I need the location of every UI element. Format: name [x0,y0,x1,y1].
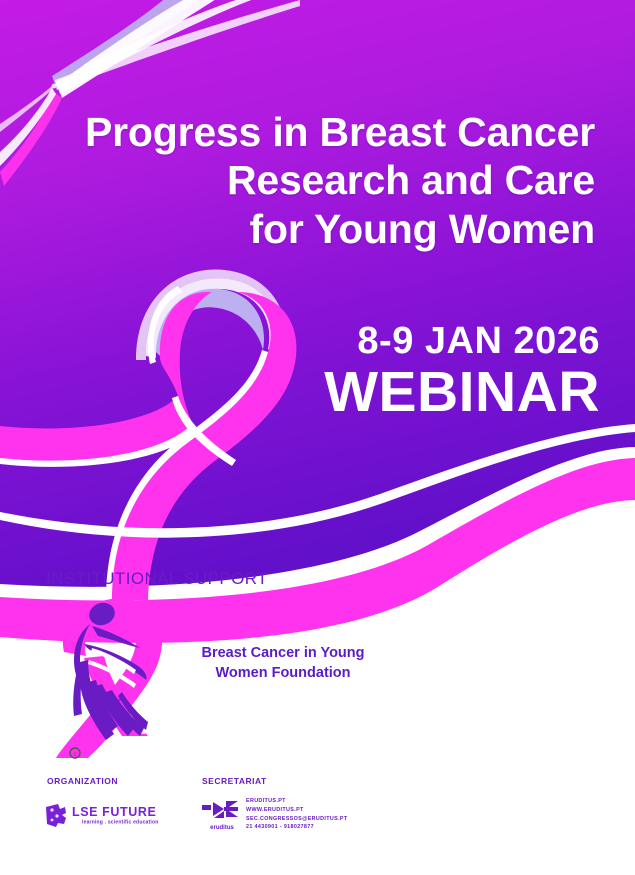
lse-future-logo: LSE FUTURE learning . scientific educati… [44,801,164,829]
event-date-format: 8-9 JAN 2026 WEBINAR [0,322,600,422]
header-purple-panel [0,0,635,594]
institutional-support-label: INSTITUTIONAL SUPPORT [46,569,268,589]
eruditus-wordmark: eruditus [210,825,234,831]
secretariat-label: SECRETARIAT [202,776,267,786]
title-line-3: for Young Women [0,205,595,253]
contact-line-1: ERUDITUS.PT [246,797,348,806]
event-format: WEBINAR [0,362,600,422]
svg-text:c: c [74,752,77,758]
event-date: 8-9 JAN 2026 [0,322,600,360]
page-title: Progress in Breast Cancer Research and C… [0,108,595,253]
title-line-1: Progress in Breast Cancer [0,108,595,156]
lse-future-tagline: learning . scientific education [82,820,159,826]
contact-line-2: WWW.ERUDITUS.PT [246,806,348,815]
contact-line-4: 21 4430901 - 918027877 [246,823,348,832]
organization-label: ORGANIZATION [47,776,118,786]
conference-poster: Progress in Breast Cancer Research and C… [0,0,635,875]
white-accent-arc [0,424,635,538]
foundation-name: Breast Cancer in Young Women Foundation [168,644,398,683]
secretariat-contact: ERUDITUS.PT WWW.ERUDITUS.PT SEC.CONGRESS… [246,797,348,832]
lse-future-wordmark: LSE FUTURE [72,805,156,819]
contact-line-3: SEC.CONGRESSOS@ERUDITUS.PT [246,815,348,824]
eruditus-arrow-icon: eruditus [200,798,244,832]
foundation-name-line-2: Women Foundation [215,665,350,681]
title-line-2: Research and Care [0,156,595,204]
foundation-name-line-1: Breast Cancer in Young [201,645,364,661]
